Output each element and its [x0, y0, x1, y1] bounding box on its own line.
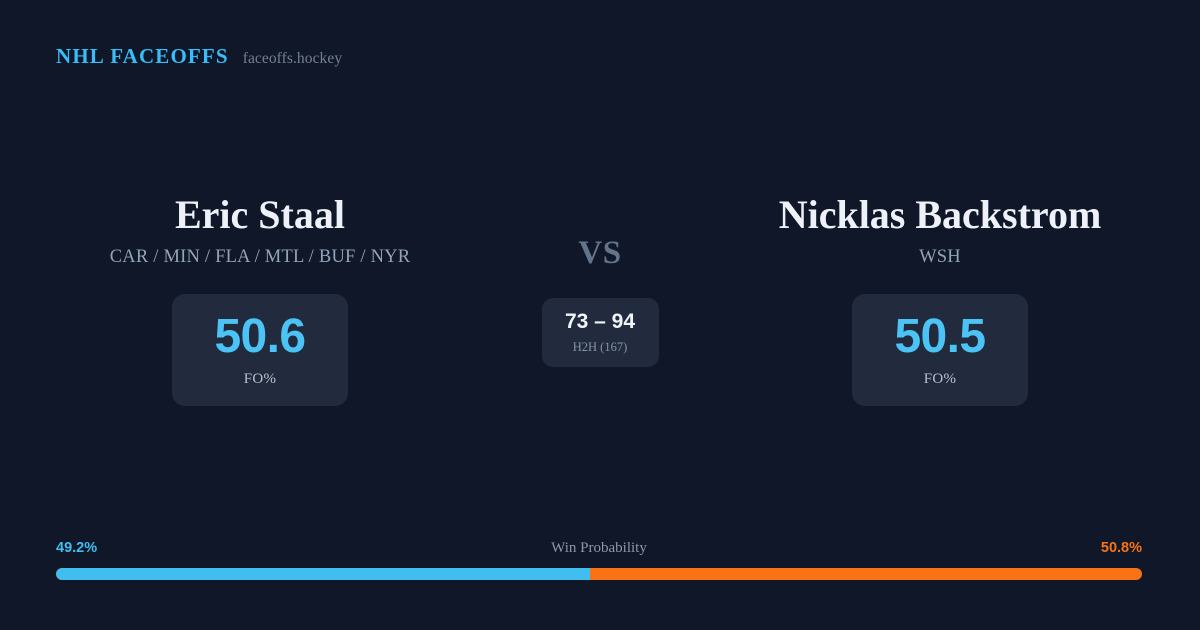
win-probability-labels: 49.2% Win Probability 50.8%: [56, 538, 1142, 558]
win-probability-bar: [56, 568, 1142, 580]
left-player-stat-value: 50.6: [214, 313, 305, 361]
left-player-stat-label: FO%: [244, 371, 277, 388]
head-to-head-record: 73 – 94: [565, 311, 635, 332]
right-player-stat-value: 50.5: [894, 313, 985, 361]
win-probability-section: 49.2% Win Probability 50.8%: [56, 538, 1142, 580]
win-probability-right-value: 50.8%: [1101, 538, 1142, 558]
left-player-name: Eric Staal: [175, 192, 345, 238]
matchup-center-block: VS 73 – 94 H2H (167): [500, 192, 700, 367]
vs-label: VS: [578, 237, 621, 270]
right-player-name: Nicklas Backstrom: [779, 192, 1102, 238]
brand-domain: faceoffs.hockey: [243, 51, 342, 67]
right-player-stat-card: 50.5 FO%: [852, 294, 1028, 406]
head-to-head-card: 73 – 94 H2H (167): [542, 298, 659, 367]
matchup-comparison: Eric Staal CAR / MIN / FLA / MTL / BUF /…: [0, 192, 1200, 406]
right-player-teams: WSH: [919, 247, 961, 268]
left-player-stat-card: 50.6 FO%: [172, 294, 348, 406]
right-player-block: Nicklas Backstrom WSH 50.5 FO%: [700, 192, 1180, 406]
win-probability-left-value: 49.2%: [56, 538, 97, 558]
win-probability-title: Win Probability: [551, 538, 647, 558]
brand-title: NHL FACEOFFS: [56, 46, 229, 67]
head-to-head-label: H2H (167): [573, 340, 628, 355]
right-player-stat-label: FO%: [924, 371, 957, 388]
win-probability-left-fill: [56, 568, 590, 580]
site-header: NHL FACEOFFS faceoffs.hockey: [56, 46, 342, 67]
left-player-block: Eric Staal CAR / MIN / FLA / MTL / BUF /…: [20, 192, 500, 406]
left-player-teams: CAR / MIN / FLA / MTL / BUF / NYR: [110, 247, 411, 268]
